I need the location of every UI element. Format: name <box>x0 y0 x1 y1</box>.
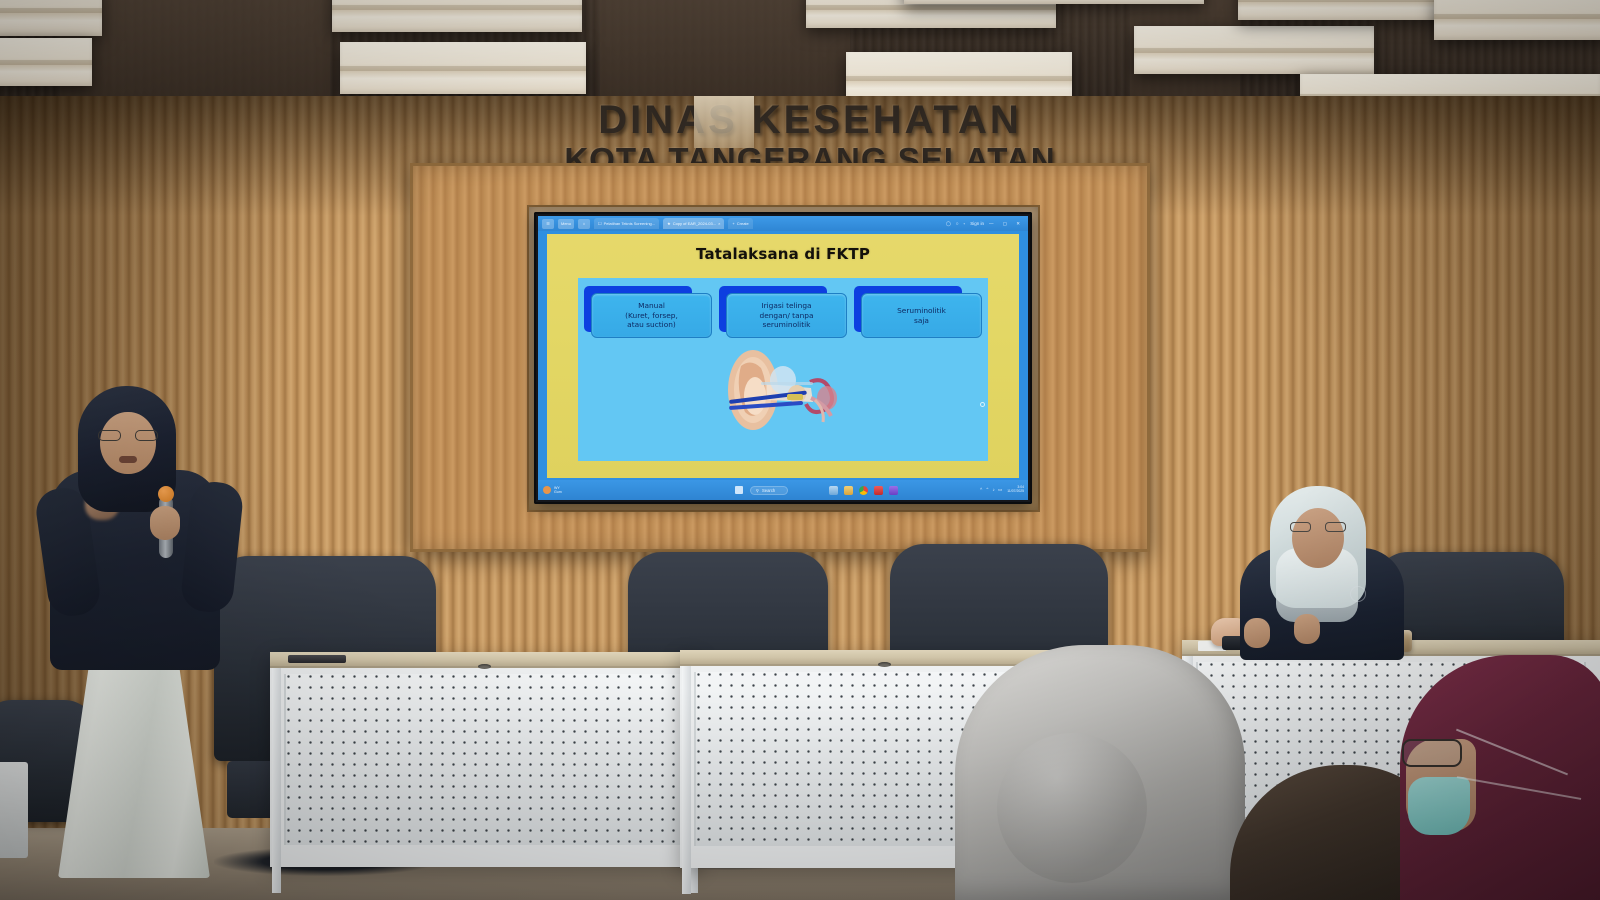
ceiling-light-panel <box>332 0 582 32</box>
taskbar-center: ⚲ Search <box>653 486 980 495</box>
glasses-icon <box>98 430 158 442</box>
ceiling-light-panel <box>806 0 1056 28</box>
browser-title-bar: ☰ Menu ⌂ ☐ Pelatihan Teknis Screening...… <box>538 216 1028 231</box>
slide-title: Tatalaksana di FKTP <box>547 245 1019 263</box>
box-content: Manual (Kuret, forsep, atau suction) <box>591 293 712 338</box>
edit-pen-icon[interactable] <box>889 486 898 495</box>
bookmark-icon[interactable]: ▫ <box>964 221 966 226</box>
wall-mounted-display: ☰ Menu ⌂ ☐ Pelatihan Teknis Screening...… <box>534 212 1032 504</box>
tab-favicon-plus-icon: + <box>732 221 734 226</box>
glasses-icon <box>1290 522 1346 533</box>
circle-icon[interactable]: ○ <box>956 221 959 226</box>
hijab-fold <box>997 733 1147 883</box>
close-icon[interactable]: × <box>718 221 720 226</box>
browser-menu-label[interactable]: Menu <box>558 219 574 229</box>
side-cabinet <box>0 762 28 858</box>
taskbar-app-icons <box>829 486 898 495</box>
tab-favicon-page-icon: ☐ <box>598 221 602 226</box>
ceiling-light-panel <box>0 38 92 86</box>
window-controls[interactable]: — ▢ ✕ <box>989 221 1024 227</box>
seated-facilitator <box>1232 486 1412 656</box>
microphone-head <box>158 486 174 502</box>
ceiling-light-panel <box>0 0 102 36</box>
browser-tab-1[interactable]: ☐ Pelatihan Teknis Screening... <box>594 218 659 229</box>
home-icon[interactable]: ⌂ <box>578 219 590 229</box>
box-line-1: Seruminolitik <box>897 306 946 316</box>
taskbar-user-sub: Gum <box>554 490 562 494</box>
slide-body-panel: Manual (Kuret, forsep, atau suction) Iri <box>578 278 988 461</box>
ceiling-light-panel <box>1434 0 1600 40</box>
box-line-1: Manual <box>625 301 678 311</box>
browser-tab-2-active[interactable]: ★ Copy of EAR_2024-03... × <box>663 218 724 229</box>
chrome-icon[interactable] <box>859 486 868 495</box>
sign-glare-occlusion <box>694 96 754 148</box>
system-tray-icons[interactable]: ^ ⌃ ♪ ▭ <box>980 487 1003 493</box>
slide-box-row: Manual (Kuret, forsep, atau suction) Iri <box>584 286 982 342</box>
box-line-1: Irigasi telinga <box>760 301 814 311</box>
slide-corner-marker <box>980 402 985 407</box>
box-line-2: (Kuret, forsep, <box>625 311 678 321</box>
sign-in-button[interactable]: Sign in <box>970 221 984 226</box>
clock-date[interactable]: 11/07/2025 <box>1007 490 1024 494</box>
slide-box-2: Irigasi telinga dengan/ tanpa seruminoli… <box>719 286 847 338</box>
box-content: Seruminolitik saja <box>861 293 982 338</box>
ear-anatomy-illustration <box>715 344 851 434</box>
ceiling-light-panel <box>904 0 1204 4</box>
remote-control[interactable] <box>288 655 346 663</box>
ceiling <box>0 0 1600 108</box>
avatar[interactable] <box>543 486 551 494</box>
folder-icon[interactable] <box>844 486 853 495</box>
tab-title: Pelatihan Teknis Screening... <box>604 221 656 226</box>
jacket-emblem <box>1350 586 1366 602</box>
ceiling-light-panel <box>340 42 586 94</box>
glasses-icon <box>1402 739 1462 767</box>
search-placeholder: Search <box>762 488 775 493</box>
hamburger-menu-icon[interactable]: ☰ <box>542 219 554 229</box>
presenter-skirt <box>58 648 210 878</box>
search-input[interactable]: ⚲ Search <box>750 486 788 495</box>
seated-right-hand <box>1294 614 1320 644</box>
windows-taskbar: WY Gum ⚲ Search <box>538 480 1028 500</box>
browser-toolbar-right: ◯ ○ ▫ Sign in — ▢ ✕ <box>946 221 1024 227</box>
presentation-slide: Tatalaksana di FKTP Manual (Kuret, forse… <box>547 234 1019 478</box>
box-line-3: seruminolitik <box>760 320 814 330</box>
pdf-icon[interactable] <box>874 486 883 495</box>
file-explorer-icon[interactable] <box>829 486 838 495</box>
slide-box-1: Manual (Kuret, forsep, atau suction) <box>584 286 712 338</box>
seated-left-hand <box>1244 618 1270 648</box>
search-icon[interactable]: ◯ <box>946 221 951 227</box>
search-icon: ⚲ <box>756 488 759 493</box>
windows-start-icon[interactable] <box>735 486 743 494</box>
ceiling-light-panel <box>1134 26 1374 74</box>
meeting-room-photo: DINAS KESEHATAN KOTA TANGERANG SELATAN ☰… <box>0 0 1600 900</box>
taskbar-user[interactable]: WY Gum <box>538 486 653 494</box>
browser-tab-3-create[interactable]: + Create <box>728 218 752 229</box>
presenter-hand-holding-mic <box>150 506 180 540</box>
tab-title: Copy of EAR_2024-03... <box>673 221 716 226</box>
box-line-2: dengan/ tanpa <box>760 311 814 321</box>
slide-box-3: Seruminolitik saja <box>854 286 982 338</box>
box-content: Irigasi telinga dengan/ tanpa seruminoli… <box>726 293 847 338</box>
presenter-standing <box>40 378 240 878</box>
tab-title: Create <box>737 221 749 226</box>
presenter-mouth <box>119 456 137 463</box>
box-line-2: saja <box>897 316 946 326</box>
seated-face <box>1292 508 1344 568</box>
cable-grommet <box>478 664 491 669</box>
face-mask-icon <box>1408 777 1470 835</box>
tab-favicon-star-icon: ★ <box>667 221 671 226</box>
taskbar-system-tray: ^ ⌃ ♪ ▭ 3:04 11/07/2025 <box>980 486 1028 494</box>
sign-line-1: DINAS KESEHATAN <box>520 100 1100 140</box>
screen-content: ☰ Menu ⌂ ☐ Pelatihan Teknis Screening...… <box>538 216 1028 500</box>
cable-grommet <box>878 662 891 667</box>
box-line-3: atau suction) <box>625 320 678 330</box>
presenter-face <box>100 412 156 474</box>
audience-member-maroon-hijab <box>1400 655 1600 900</box>
audience-member-grey-hijab <box>955 645 1245 900</box>
conference-table <box>270 652 700 867</box>
